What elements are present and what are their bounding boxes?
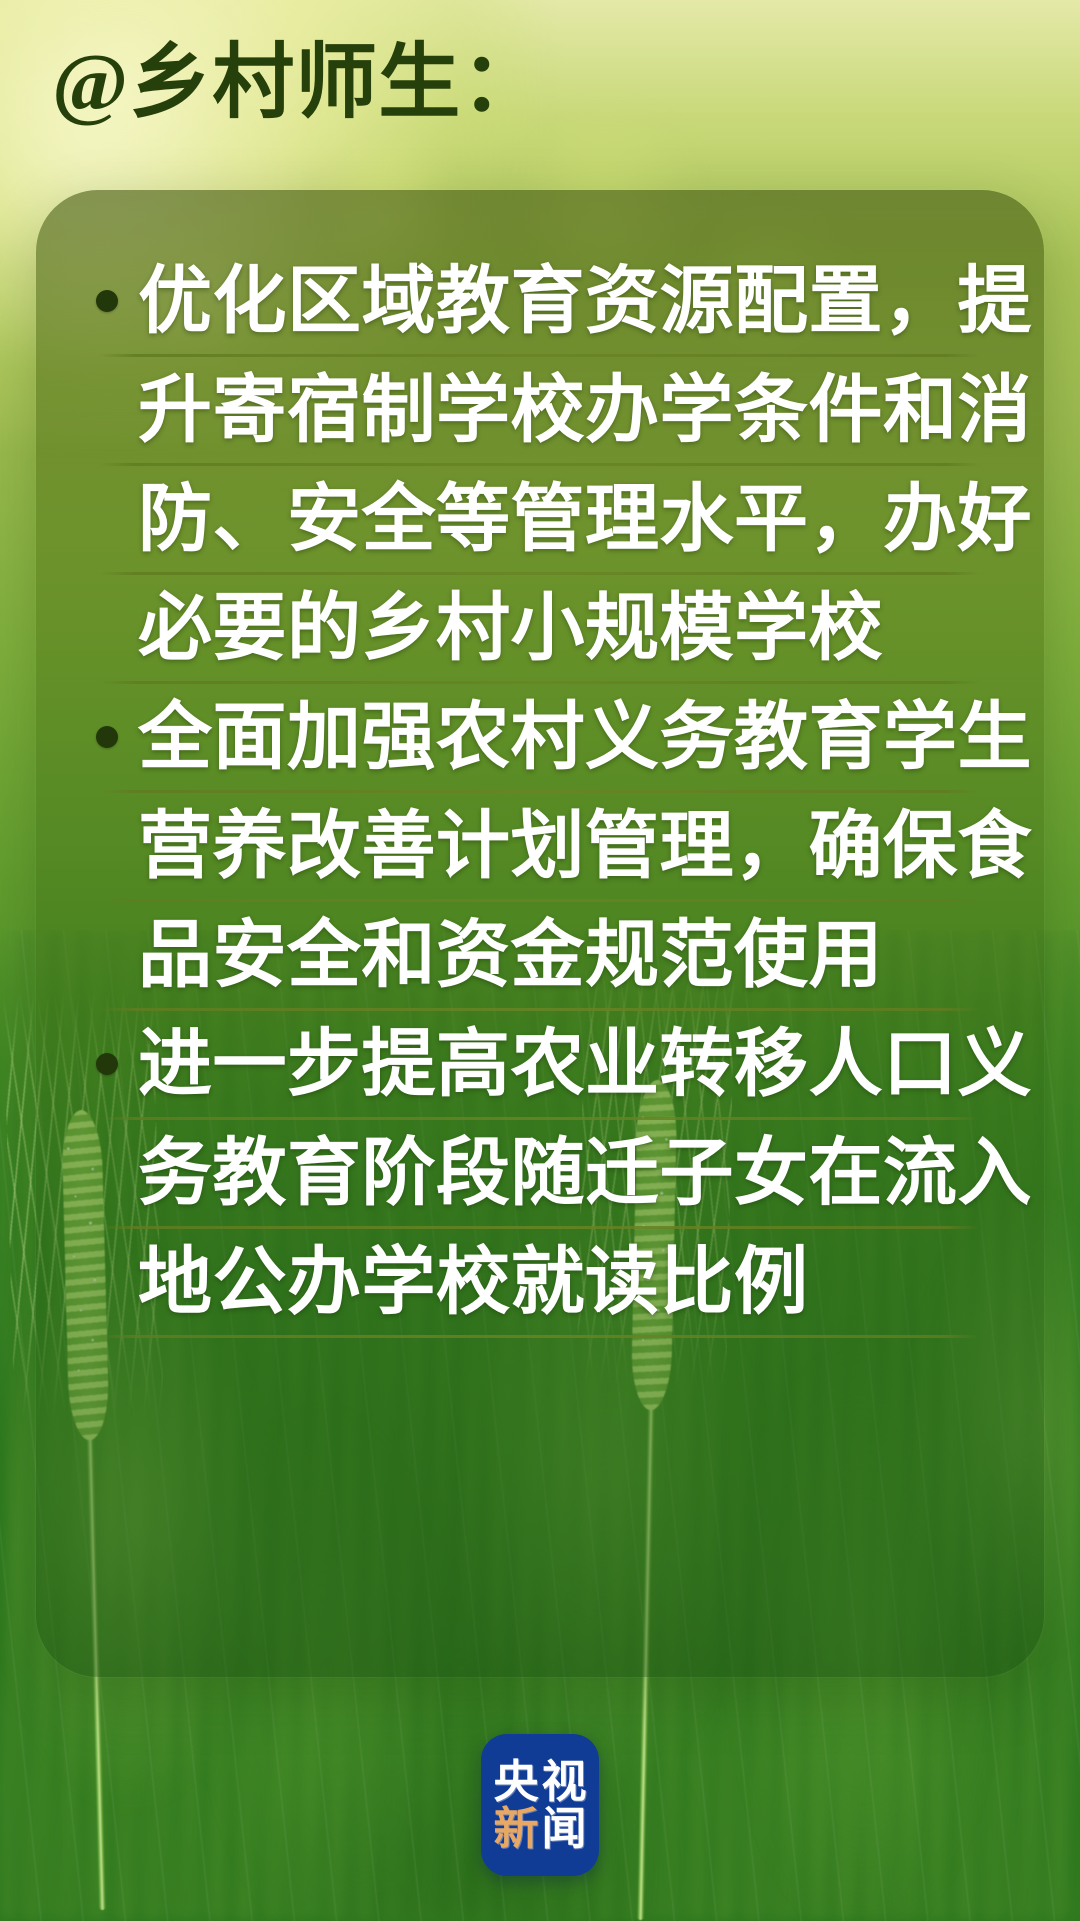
logo-char-yang: 央 [493,1759,538,1804]
bullet-marker-cell [76,1162,138,1184]
bullet-item: 进一步提高农业转移人口义 务教育阶段随迁子女在流入 地公办学校就读比例 [76,1011,1004,1338]
bullet-dot-icon [96,1053,118,1075]
bullet-line-text: 优化区域教育资源配置，提 [138,264,1032,338]
bullet-line-text: 防、安全等管理水平，办好 [138,482,1032,556]
bullet-item: 全面加强农村义务教育学生 营养改善计划管理，确保食 品安全和资金规范使用 [76,684,1004,1008]
bullet-marker-cell [76,290,138,312]
bullet-dot-icon [96,726,118,748]
bullet-item: 优化区域教育资源配置，提 升寄宿制学校办学条件和消 防、安全等管理水平，办好 [76,248,1004,681]
logo-bottom-row: 新 闻 [493,1806,586,1851]
cctv-news-logo: 央 视 新 闻 [481,1734,599,1876]
bullet-line-text: 全面加强农村义务教育学生 [138,700,1032,774]
line-divider [100,1335,980,1338]
bullet-marker-cell [76,1271,138,1293]
bullet-line-text: 品安全和资金规范使用 [138,918,1004,992]
logo-top-row: 央 视 [493,1759,586,1804]
bullet-line: 必要的乡村小规模学校 [76,575,1004,681]
bullet-marker-cell [76,726,138,748]
bullet-marker-cell [76,944,138,966]
bullet-line-text: 营养改善计划管理，确保食 [138,809,1032,883]
bullet-line-text: 进一步提高农业转移人口义 [138,1027,1032,1101]
bullet-line-text: 必要的乡村小规模学校 [138,591,1004,665]
page-title: @乡村师生： [52,36,544,130]
poster-canvas: @乡村师生： 优化区域教育资源配置，提 升寄宿制学校办学条件和消 [0,0,1080,1921]
bullet-line: 营养改善计划管理，确保食 [76,793,1004,899]
logo-char-wen: 闻 [542,1806,587,1851]
bullet-line: 升寄宿制学校办学条件和消 [76,357,1004,463]
bullet-marker-cell [76,835,138,857]
bullet-marker-cell [76,617,138,639]
bullet-line: 优化区域教育资源配置，提 [76,248,1004,354]
bullet-dot-icon [96,290,118,312]
bullet-line: 全面加强农村义务教育学生 [76,684,1004,790]
bullet-line-text: 地公办学校就读比例 [138,1245,1004,1319]
bullet-line: 进一步提高农业转移人口义 [76,1011,1004,1117]
bullet-line: 务教育阶段随迁子女在流入 [76,1120,1004,1226]
bullet-marker-cell [76,1053,138,1075]
logo-char-shi: 视 [542,1759,587,1804]
bullet-marker-cell [76,399,138,421]
bullet-line-text: 务教育阶段随迁子女在流入 [138,1136,1032,1210]
content-card: 优化区域教育资源配置，提 升寄宿制学校办学条件和消 防、安全等管理水平，办好 [36,190,1044,1677]
content-card-body: 优化区域教育资源配置，提 升寄宿制学校办学条件和消 防、安全等管理水平，办好 [36,190,1044,1677]
bullet-line: 防、安全等管理水平，办好 [76,466,1004,572]
bullet-marker-cell [76,508,138,530]
bullet-line: 地公办学校就读比例 [76,1229,1004,1335]
bullet-line-text: 升寄宿制学校办学条件和消 [138,373,1032,447]
bullet-line: 品安全和资金规范使用 [76,902,1004,1008]
logo-char-xin: 新 [493,1806,538,1851]
